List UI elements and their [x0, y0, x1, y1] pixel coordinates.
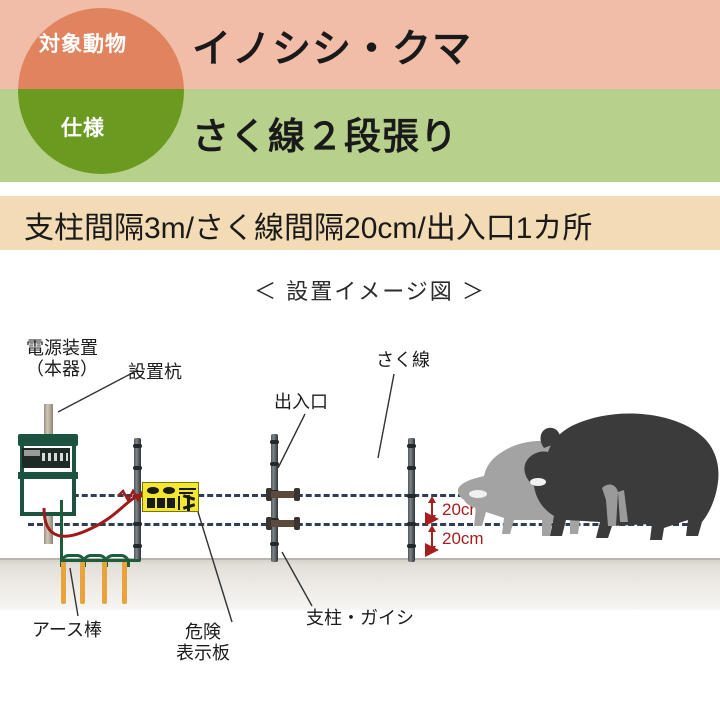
label-gate: 出入口 — [274, 392, 328, 413]
page-root: 対象動物 仕様 イノシシ・クマ さく線２段張り 支柱間隔3m/さく線間隔20cm… — [0, 0, 720, 720]
label-warning-sign: 危険 表示板 — [160, 622, 246, 664]
label-insulator: 支柱・ガイシ — [306, 608, 414, 629]
label-leader-lines — [0, 250, 720, 720]
label-earth-rod: アース棒 — [32, 620, 102, 641]
label-power-unit-line1: 電源装置 — [4, 338, 120, 359]
header-value-specification: さく線２段張り — [192, 106, 458, 160]
badge-label-target-animal: 対象動物 — [0, 28, 166, 58]
label-warning-sign-line1: 危険 — [160, 622, 246, 643]
label-power-unit: 電源装置 （本器） — [4, 338, 120, 380]
installation-diagram: ＜ 設置イメージ図 ＞ — [0, 250, 720, 720]
header-value-target-animal: イノシシ・クマ — [192, 18, 472, 74]
label-post: 設置杭 — [128, 362, 182, 383]
header-detail-text: 支柱間隔3m/さく線間隔20cm/出入口1カ所 — [24, 203, 592, 247]
badge-label-specification: 仕様 — [0, 112, 166, 142]
label-power-unit-line2: （本器） — [4, 359, 120, 380]
label-warning-sign-line2: 表示板 — [160, 643, 246, 664]
label-fence-wire: さく線 — [376, 350, 430, 371]
